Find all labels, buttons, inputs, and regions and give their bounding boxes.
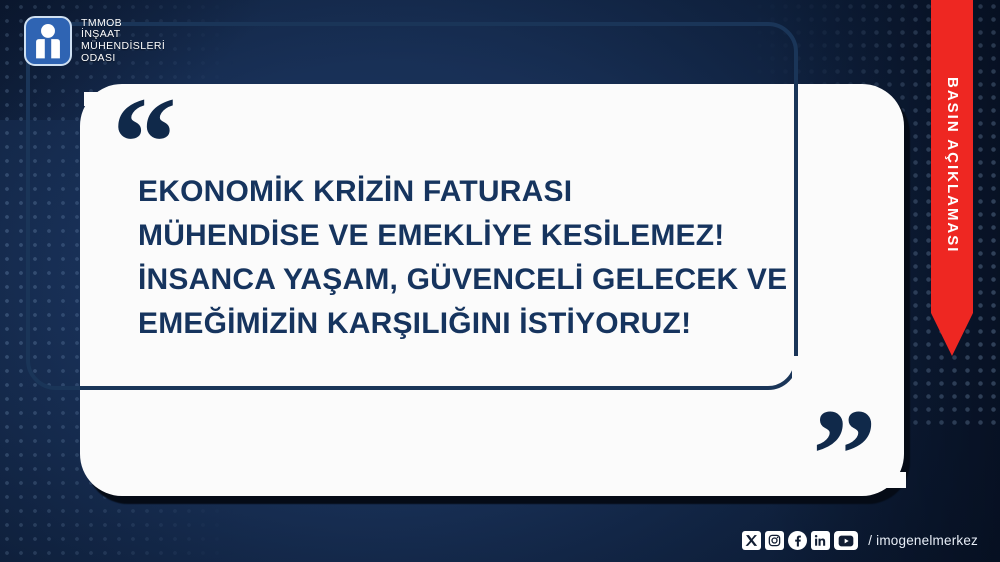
border-break-right [792,356,808,488]
organization-logo: TMMOB İNŞAAT MÜHENDİSLERİ ODASI [24,16,165,66]
facebook-icon[interactable] [788,531,807,550]
social-bar: / imogenelmerkez [742,531,978,550]
organization-name: TMMOB İNŞAAT MÜHENDİSLERİ ODASI [81,18,165,65]
social-handle: / imogenelmerkez [868,533,978,548]
tmmob-figure-icon [24,16,72,66]
instagram-icon[interactable] [765,531,784,550]
press-release-graphic: TMMOB İNŞAAT MÜHENDİSLERİ ODASI BASIN AÇ… [0,0,1000,562]
youtube-icon[interactable] [834,531,858,550]
ribbon-label: BASIN AÇIKLAMASI [931,20,973,310]
headline-line-2: MÜHENDİSE VE EMEKLİYE KESİLEMEZ! [138,216,868,256]
linkedin-icon[interactable] [811,531,830,550]
border-break-left [96,104,110,224]
headline-line-1: EKONOMİK KRİZİN FATURASI [138,172,868,212]
logo-line-3: MÜHENDİSLERİ [81,41,165,53]
logo-line-4: ODASI [81,53,165,65]
headline-block: EKONOMİK KRİZİN FATURASI MÜHENDİSE VE EM… [138,172,868,348]
press-release-ribbon: BASIN AÇIKLAMASI [931,0,973,356]
headline-line-4: EMEĞİMİZİN KARŞILIĞINI İSTİYORUZ! [138,304,868,344]
headline-line-3: İNSANCA YAŞAM, GÜVENCELİ GELECEK VE [138,260,868,300]
closing-quote-mark: ” [812,390,879,520]
x-twitter-icon[interactable] [742,531,761,550]
